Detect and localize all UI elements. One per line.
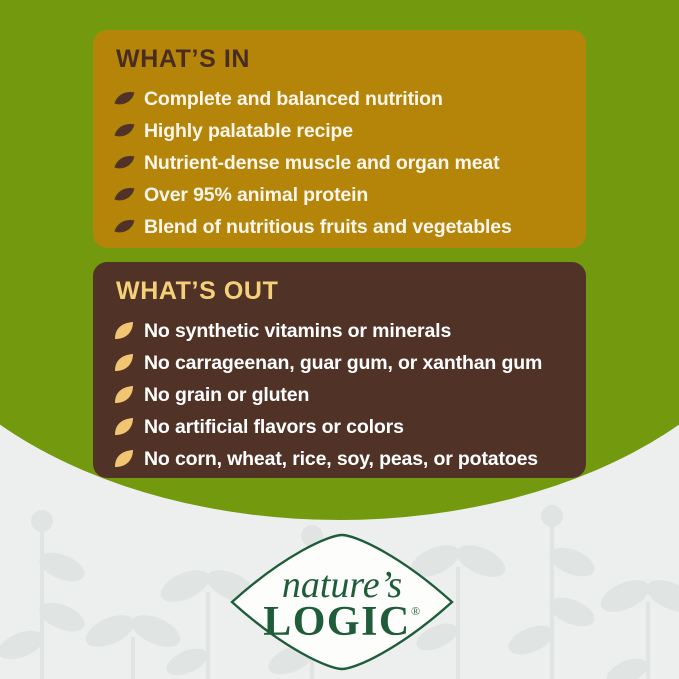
list-item: No artificial flavors or colors (113, 412, 564, 444)
leaf-icon (113, 321, 136, 342)
list-item: No corn, wheat, rice, soy, peas, or pota… (113, 444, 564, 476)
leaf-icon (113, 89, 136, 110)
list-whats-out: No synthetic vitamins or minerals No car… (113, 316, 564, 476)
brand-logo: nature’s LOGIC ® (229, 533, 455, 672)
list-item: Over 95% animal protein (113, 180, 564, 212)
list-item-label: No artificial flavors or colors (144, 418, 404, 438)
leaf-icon (113, 385, 136, 406)
list-item: Blend of nutritious fruits and vegetable… (113, 212, 564, 244)
leaf-icon (113, 121, 136, 142)
card-whats-out: WHAT’S OUT No synthetic vitamins or mine… (93, 262, 586, 478)
card-title-whats-in: WHAT’S IN (116, 46, 564, 74)
leaf-icon (113, 217, 136, 238)
leaf-icon (113, 185, 136, 206)
list-item: No grain or gluten (113, 380, 564, 412)
list-item-label: Blend of nutritious fruits and vegetable… (144, 218, 512, 238)
list-item-label: No corn, wheat, rice, soy, peas, or pota… (144, 450, 538, 470)
list-item-label: No grain or gluten (144, 386, 309, 406)
list-item: Highly palatable recipe (113, 116, 564, 148)
card-title-whats-out: WHAT’S OUT (116, 278, 564, 306)
list-item-label: Complete and balanced nutrition (144, 90, 443, 110)
list-item-label: Highly palatable recipe (144, 122, 353, 142)
registered-trademark-icon: ® (411, 604, 420, 618)
list-item: Complete and balanced nutrition (113, 84, 564, 116)
leaf-icon (113, 449, 136, 470)
list-item-label: No carrageenan, guar gum, or xanthan gum (144, 354, 542, 374)
list-whats-in: Complete and balanced nutrition Highly p… (113, 84, 564, 244)
infographic-canvas: WHAT’S IN Complete and balanced nutritio… (0, 0, 679, 679)
card-whats-in: WHAT’S IN Complete and balanced nutritio… (93, 30, 586, 248)
list-item-label: Nutrient-dense muscle and organ meat (144, 154, 499, 174)
brand-logo-svg: nature’s LOGIC ® (229, 533, 455, 672)
list-item: No carrageenan, guar gum, or xanthan gum (113, 348, 564, 380)
list-item-label: No synthetic vitamins or minerals (144, 322, 451, 342)
leaf-icon (113, 353, 136, 374)
leaf-icon (113, 153, 136, 174)
list-item-label: Over 95% animal protein (144, 186, 368, 206)
list-item: Nutrient-dense muscle and organ meat (113, 148, 564, 180)
list-item: No synthetic vitamins or minerals (113, 316, 564, 348)
logo-block-word: LOGIC (263, 599, 411, 645)
leaf-icon (113, 417, 136, 438)
